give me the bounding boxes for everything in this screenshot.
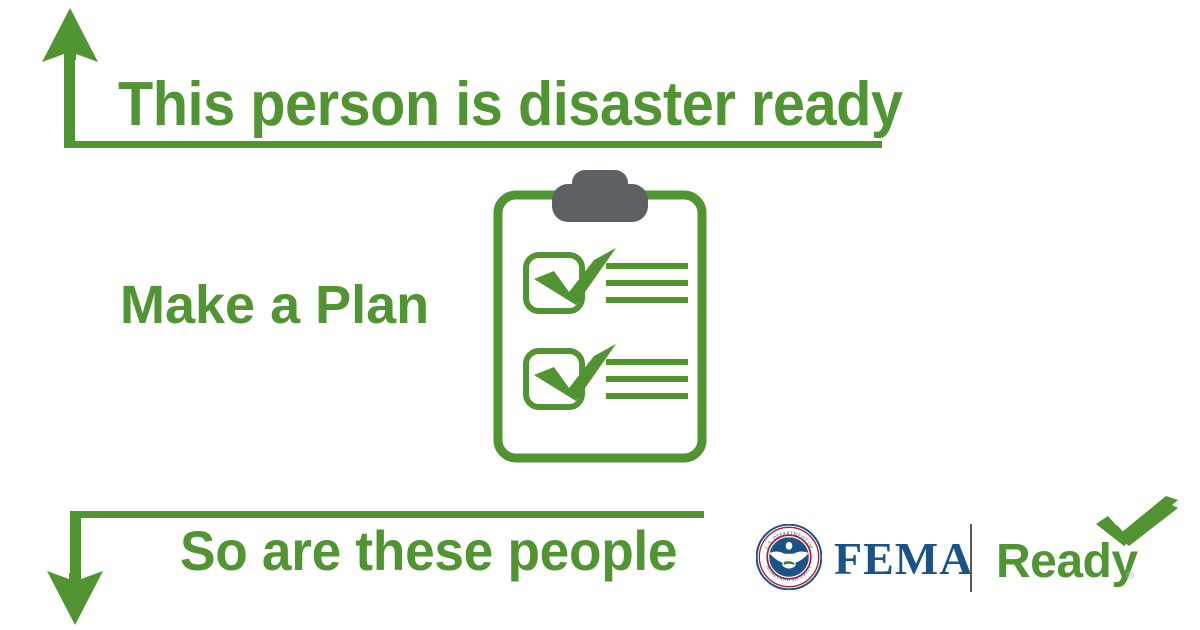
clipboard-icon [484, 168, 716, 468]
fema-wordmark: FEMA [834, 536, 973, 582]
logo-divider [970, 524, 972, 592]
ready-wordmark: Ready [996, 538, 1138, 586]
clipboard-board [498, 195, 702, 458]
clipboard-clip-top [572, 170, 628, 200]
make-a-plan-label: Make a Plan [120, 276, 429, 334]
checklist-line [606, 280, 688, 286]
page-title: This person is disaster ready [118, 74, 902, 136]
down-arrow-head [47, 571, 103, 625]
checklist-line [606, 393, 688, 399]
subline-overline-rule [70, 511, 704, 518]
dhs-seal-icon: U.S. DEPARTMENT OF HOMELAND SECURITY [756, 524, 822, 590]
up-arrow-shaft [64, 44, 75, 148]
ready-campaign-poster: This person is disaster ready Make a Pla… [0, 0, 1200, 630]
checklist-line [606, 359, 688, 365]
checklist-line [606, 297, 688, 303]
checklist-line [606, 263, 688, 269]
headline-underline-rule [64, 141, 882, 148]
page-subtitle: So are these people [180, 522, 677, 580]
ready-registered-mark: ® [1126, 570, 1134, 582]
fema-ready-logo-lockup[interactable]: U.S. DEPARTMENT OF HOMELAND SECURITY FEM… [756, 498, 1176, 608]
checklist-line [606, 376, 688, 382]
